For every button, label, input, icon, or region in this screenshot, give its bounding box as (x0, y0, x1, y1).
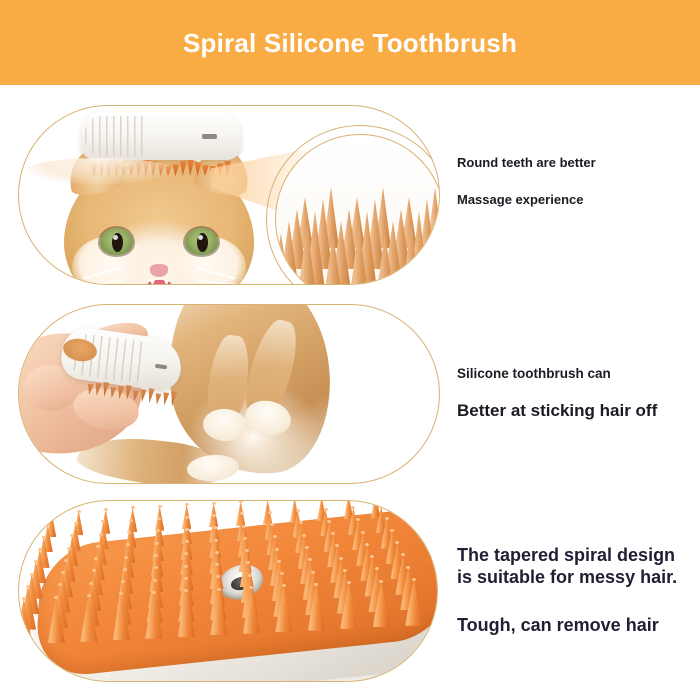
spike-tip (104, 508, 108, 511)
cat-nose (150, 264, 168, 277)
spike-tip (214, 539, 218, 542)
silicone-tooth (162, 392, 170, 406)
panel-1-line-2: Massage experience (457, 192, 596, 207)
spike-tip (50, 511, 54, 514)
spike-tip (217, 588, 221, 591)
cat-tooth-left (150, 280, 155, 285)
silicone-tooth (180, 161, 187, 176)
silicone-tooth (109, 387, 116, 399)
spike-tip (124, 556, 128, 559)
spike-tip (157, 517, 161, 520)
spike-tip (185, 516, 189, 519)
spike-tip (185, 503, 189, 506)
product-feature-page: Spiral Silicone Toothbrush (0, 0, 700, 700)
spike-tip (343, 569, 347, 572)
spike-tip (67, 547, 71, 550)
spike-tip (239, 500, 243, 503)
spike-tip (302, 534, 306, 537)
spike-tip (379, 504, 383, 507)
cat-mouth (147, 280, 172, 285)
device-indicator-slot (202, 134, 217, 139)
spike-tip (185, 540, 189, 543)
spike-tip (123, 568, 127, 571)
spike-tip (365, 543, 369, 546)
spike-tip (401, 553, 405, 556)
spike-tip (158, 505, 162, 508)
spike-tip (154, 566, 158, 569)
silicone-tooth (101, 382, 109, 398)
spike-tip (268, 511, 272, 514)
spike-tip (379, 580, 383, 583)
spike-tip (42, 536, 46, 539)
spike-tip (275, 548, 279, 551)
spike-tip (87, 594, 91, 597)
silicone-tooth (169, 391, 177, 407)
spike-tip (406, 566, 410, 569)
spike-tip (77, 510, 81, 513)
spike-tip (152, 591, 156, 594)
feature-panel-2 (18, 304, 440, 484)
spike-tip (395, 541, 399, 544)
spike-tip (361, 531, 365, 534)
spike-tip (54, 596, 58, 599)
spike-tip (277, 560, 281, 563)
silicone-tooth (195, 162, 202, 176)
silicone-spike (371, 500, 380, 518)
spike-tip (34, 560, 38, 563)
spike-tip (347, 581, 351, 584)
spike-tip (370, 555, 374, 558)
silicone-tooth (154, 393, 161, 405)
cat-eye-left (100, 228, 133, 255)
device-indicator-slot (155, 364, 167, 370)
spike-tip (314, 583, 318, 586)
spike-tip (270, 523, 274, 526)
spike-tip (26, 585, 30, 588)
spike-tip (185, 528, 189, 531)
silicone-tooth (147, 388, 155, 404)
panel-3-line-1: The tapered spiral design is suitable fo… (457, 545, 687, 589)
spike-tip (38, 548, 42, 551)
magnified-teeth (275, 161, 440, 285)
panel-1-image (19, 106, 440, 285)
spike-tip (385, 517, 389, 520)
spike-tip (248, 574, 252, 577)
spike-tip (240, 512, 244, 515)
silicone-tooth (132, 390, 139, 402)
spike-tip (215, 551, 219, 554)
spike-tip (46, 524, 50, 527)
spike-tip (121, 580, 125, 583)
spike-tip (131, 506, 135, 509)
spike-tip (212, 502, 216, 505)
spike-tip (331, 532, 335, 535)
spike-tip (155, 542, 159, 545)
spike-tip (324, 508, 328, 511)
page-header: Spiral Silicone Toothbrush (0, 0, 700, 85)
panel-2-image (19, 305, 440, 484)
spike-tip (64, 559, 68, 562)
spike-tip (129, 519, 133, 522)
spike-tip (30, 573, 34, 576)
spike-tip (89, 582, 93, 585)
spike-tip (305, 546, 309, 549)
spike-tip (242, 525, 246, 528)
spike-tip (390, 529, 394, 532)
silicone-tooth (187, 160, 194, 176)
cat-tooth-right (164, 280, 169, 285)
device-body (81, 112, 241, 160)
device-ribs (85, 116, 145, 156)
silicone-tooth (202, 165, 209, 176)
spike-tip (184, 565, 188, 568)
spike-tip (280, 572, 284, 575)
fur-overlay (25, 158, 175, 184)
spike-tip (356, 518, 360, 521)
silicone-tooth (94, 383, 102, 397)
feature-panel-1 (18, 105, 440, 285)
panel-3-image (18, 500, 438, 682)
panel-3-text-block: The tapered spiral design is suitable fo… (457, 545, 687, 636)
spike-tip (311, 571, 315, 574)
silicone-tooth (124, 385, 132, 401)
cat-pupil-left (112, 233, 123, 252)
spike-tip (74, 522, 78, 525)
spike-tip (61, 571, 65, 574)
feature-panel-3 (18, 500, 438, 682)
panel-1-text-block: Round teeth are better Massage experienc… (457, 155, 596, 207)
silicone-tooth (117, 386, 125, 400)
page-title: Spiral Silicone Toothbrush (183, 30, 517, 56)
panel-2-line-2: Better at sticking hair off (457, 401, 657, 421)
spike-tip (339, 557, 343, 560)
panel-2-line-1: Silicone toothbrush can (457, 366, 657, 381)
spike-tip (245, 549, 249, 552)
panel-2-text-block: Silicone toothbrush can Better at sticki… (457, 366, 657, 421)
silicone-tooth (86, 384, 93, 396)
spike-tip (308, 558, 312, 561)
cat-pupil-right (197, 233, 208, 252)
spike-tip (412, 578, 416, 581)
spike-tip (296, 509, 300, 512)
spike-tip (327, 520, 331, 523)
spike-tip (273, 535, 277, 538)
spike-tip (99, 533, 103, 536)
spike-tip (375, 567, 379, 570)
panel-1-line-1: Round teeth are better (457, 155, 596, 170)
cat-eye-right (185, 228, 218, 255)
panel-3-line-2: Tough, can remove hair (457, 615, 687, 636)
silicone-tooth (139, 389, 147, 403)
spike-tip (351, 506, 355, 509)
spike-tip (153, 579, 157, 582)
spike-tip (335, 544, 339, 547)
